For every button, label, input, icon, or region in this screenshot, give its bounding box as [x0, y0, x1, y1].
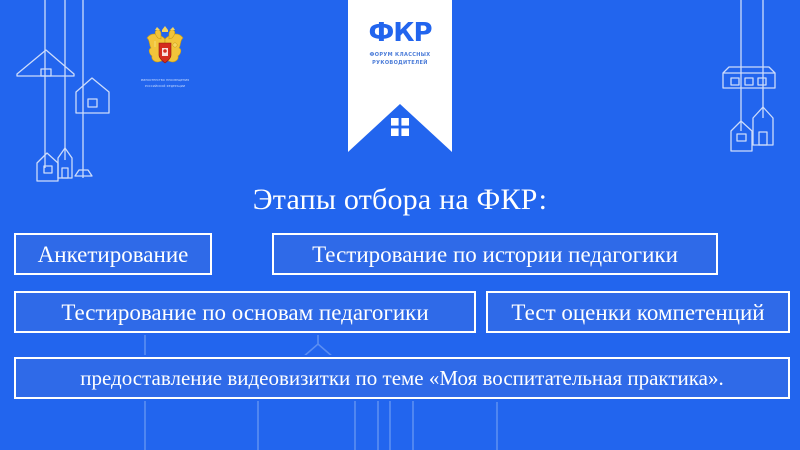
stage-label: предоставление видеовизитки по теме «Моя…: [74, 368, 729, 389]
stage-label: Тест оценки компетенций: [505, 301, 770, 324]
window-four-pane-icon: [391, 118, 409, 136]
slide-root: МИНИСТЕРСТВО ПРОСВЕЩЕНИЯ РОССИЙСКОЙ ФЕДЕ…: [0, 0, 800, 450]
stage-label: Анкетирование: [32, 243, 195, 266]
fkr-logo-tagline-1: ФОРУМ КЛАССНЫХ: [348, 52, 452, 60]
stage-label: Тестирование по основам педагогики: [55, 301, 434, 324]
emblem-caption-line2: РОССИЙСКОЙ ФЕДЕРАЦИИ: [128, 85, 202, 89]
stage-box-anketirovanie: Анкетирование: [14, 233, 212, 275]
stage-box-videovizitka: предоставление видеовизитки по теме «Моя…: [14, 357, 790, 399]
fkr-logo: ФКР ФОРУМ КЛАССНЫХ РУКОВОДИТЕЛЕЙ: [348, 20, 452, 67]
ministry-emblem: МИНИСТЕРСТВО ПРОСВЕЩЕНИЯ РОССИЙСКОЙ ФЕДЕ…: [128, 26, 202, 89]
fkr-logo-mark: ФКР: [348, 20, 452, 46]
fkr-logo-tagline-2: РУКОВОДИТЕЛЕЙ: [348, 60, 452, 68]
page-title: Этапы отбора на ФКР:: [0, 183, 800, 216]
fkr-banner: ФКР ФОРУМ КЛАССНЫХ РУКОВОДИТЕЛЕЙ: [348, 0, 452, 152]
stage-box-kompetencii: Тест оценки компетенций: [486, 291, 790, 333]
stage-box-istoria: Тестирование по истории педагогики: [272, 233, 718, 275]
emblem-caption-line1: МИНИСТЕРСТВО ПРОСВЕЩЕНИЯ: [128, 79, 202, 83]
russian-coat-of-arms-icon: [144, 26, 186, 72]
stage-label: Тестирование по истории педагогики: [306, 243, 684, 266]
stage-box-osnovy: Тестирование по основам педагогики: [14, 291, 476, 333]
